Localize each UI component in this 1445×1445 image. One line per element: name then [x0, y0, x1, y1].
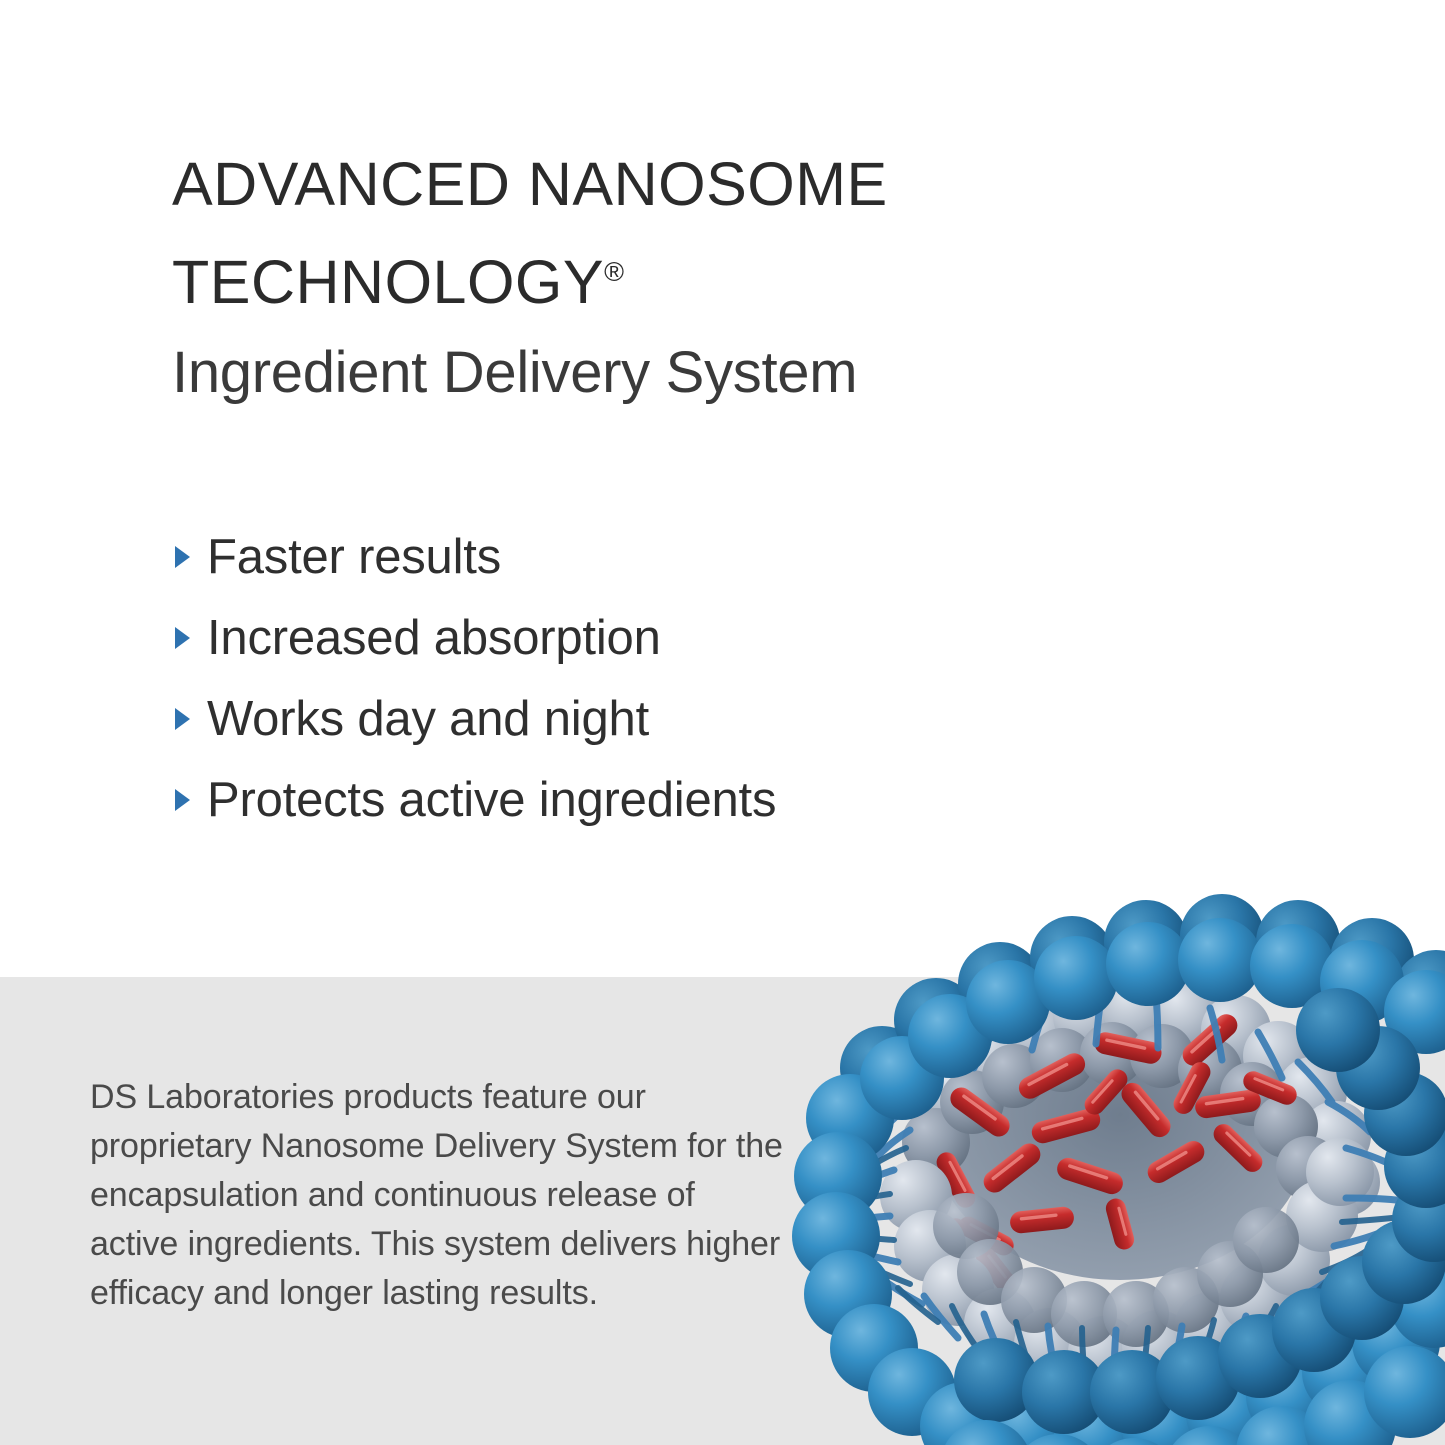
title-line-1: ADVANCED NANOSOME [172, 150, 888, 218]
benefits-list: Faster results Increased absorption Work… [175, 516, 1035, 840]
page-subtitle: Ingredient Delivery System [172, 340, 1072, 406]
benefit-label: Protects active ingredients [207, 772, 776, 828]
triangle-right-icon [175, 788, 192, 812]
benefit-label: Faster results [207, 529, 501, 585]
registered-trademark-mark: ® [604, 257, 624, 287]
page-title: ADVANCED NANOSOMETECHNOLOGY® [172, 140, 1072, 326]
benefit-label: Works day and night [207, 691, 649, 747]
triangle-right-icon [175, 626, 192, 650]
description-paragraph: DS Laboratories products feature our pro… [90, 1073, 790, 1318]
poster-canvas: ADVANCED NANOSOMETECHNOLOGY® Ingredient … [0, 0, 1445, 1445]
list-item: Works day and night [175, 678, 1035, 759]
list-item: Protects active ingredients [175, 759, 1035, 840]
list-item: Faster results [175, 516, 1035, 597]
benefit-label: Increased absorption [207, 610, 661, 666]
triangle-right-icon [175, 545, 192, 569]
headline-block: ADVANCED NANOSOMETECHNOLOGY® Ingredient … [172, 140, 1072, 406]
triangle-right-icon [175, 707, 192, 731]
list-item: Increased absorption [175, 597, 1035, 678]
nanosome-illustration [790, 880, 1445, 1445]
title-line-2: TECHNOLOGY [172, 248, 604, 316]
